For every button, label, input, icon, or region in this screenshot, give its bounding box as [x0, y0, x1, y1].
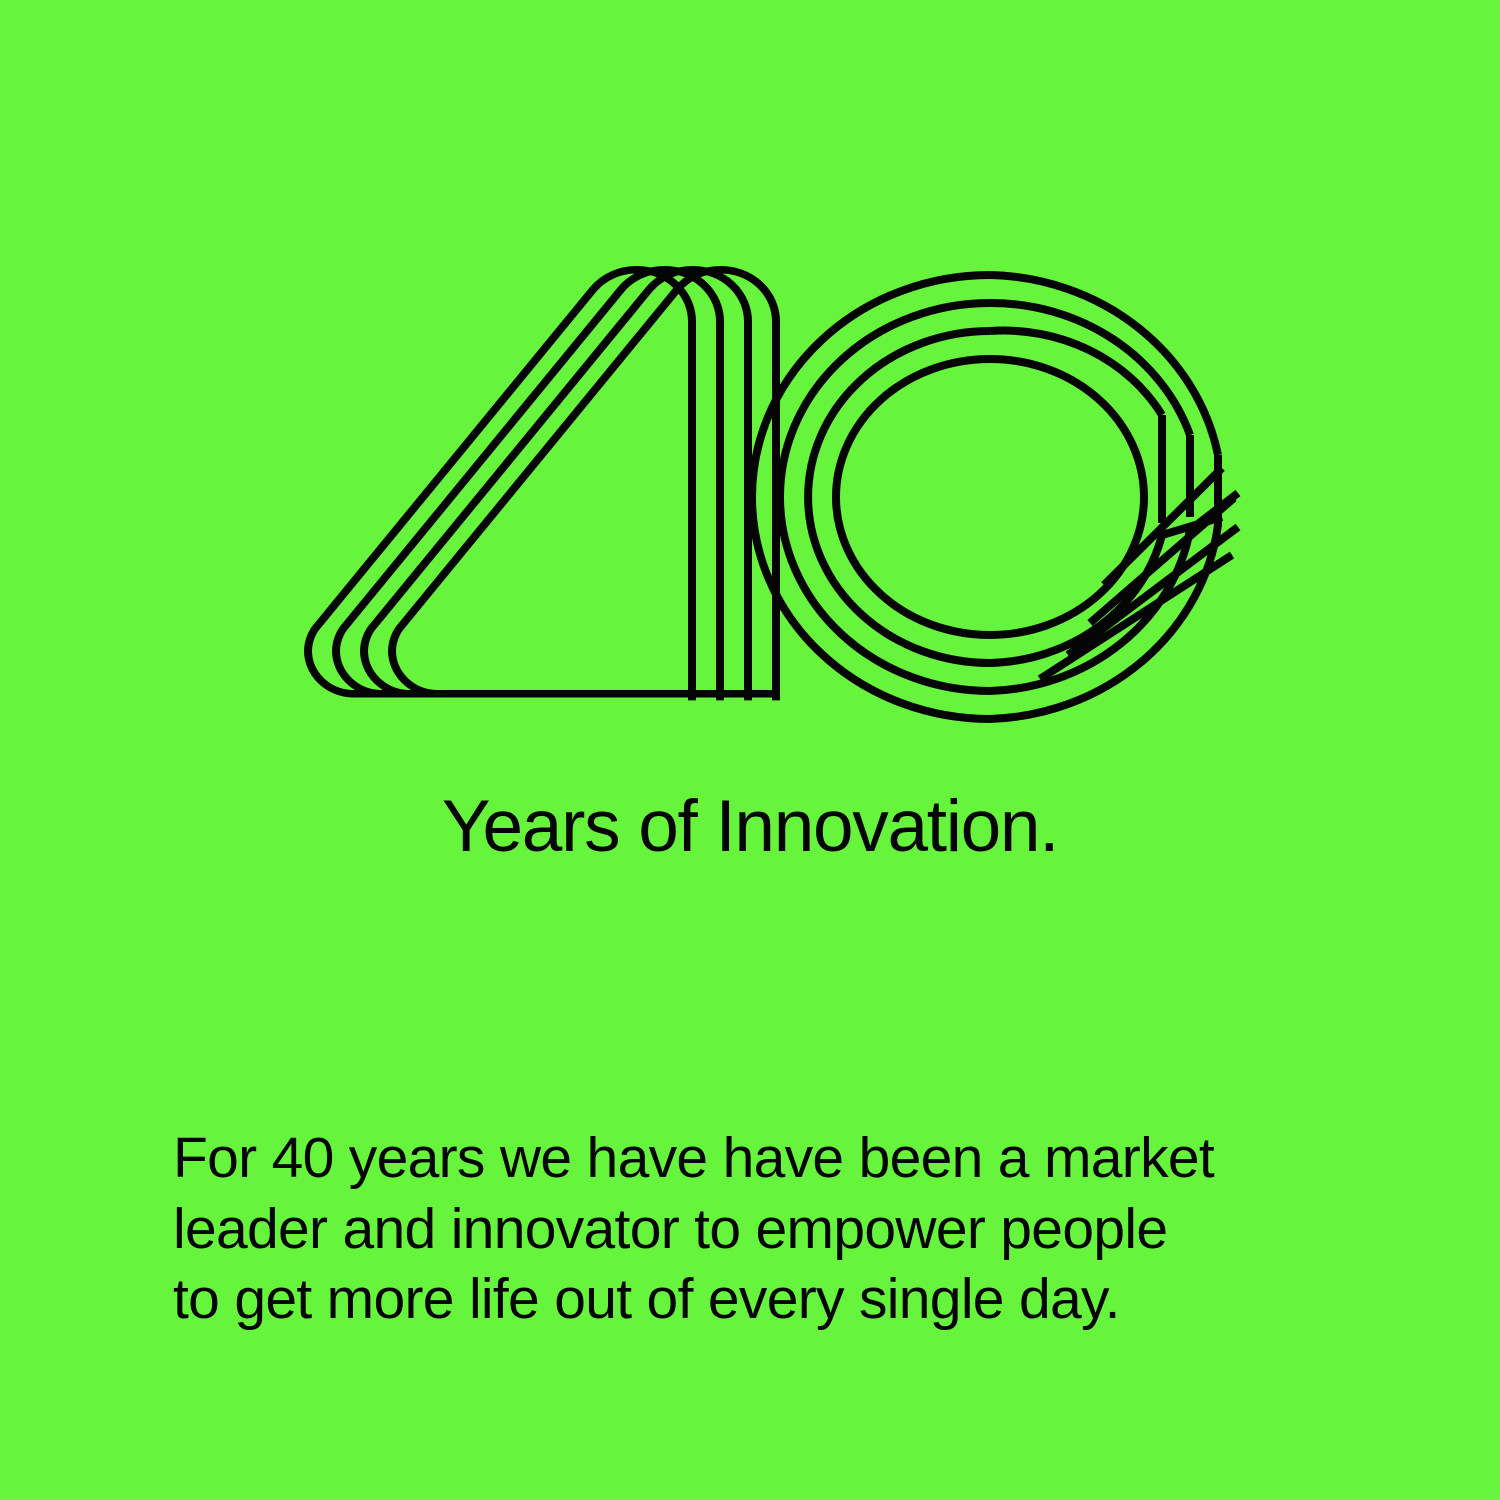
body-paragraph: For 40 years we have have been a market …: [173, 1123, 1363, 1335]
logo-40-icon: [0, 255, 1500, 755]
page-title: Years of Innovation.: [0, 790, 1500, 863]
poster-canvas: Years of Innovation. For 40 years we hav…: [0, 0, 1500, 1500]
body-line-3: to get more life out of every single day…: [173, 1264, 1363, 1335]
body-line-1: For 40 years we have have been a market: [173, 1123, 1363, 1194]
anniversary-logo: [0, 255, 1500, 755]
body-line-2: leader and innovator to empower people: [173, 1194, 1363, 1265]
